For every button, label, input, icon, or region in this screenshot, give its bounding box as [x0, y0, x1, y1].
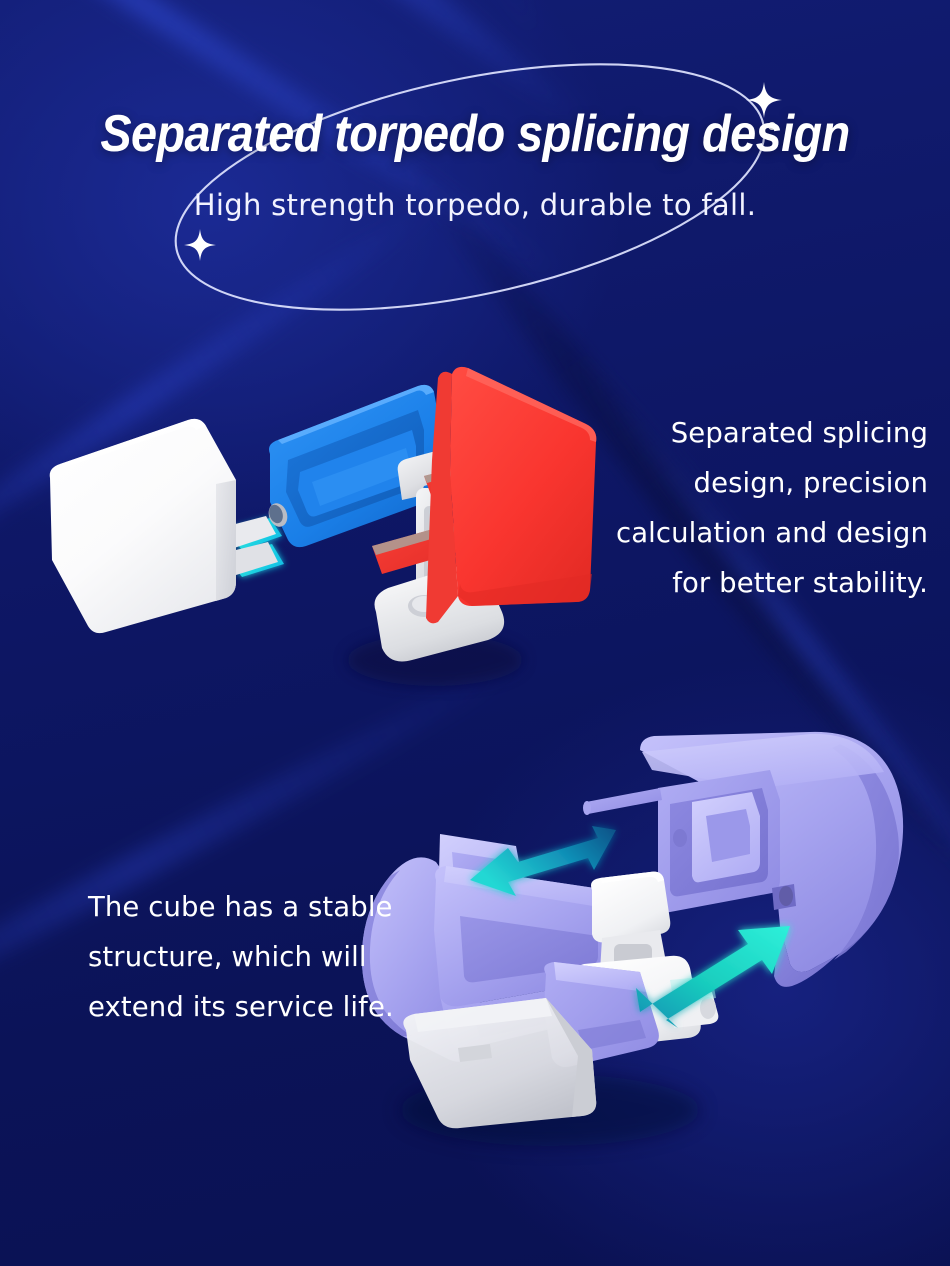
page-title: Separated torpedo splicing design — [48, 104, 903, 164]
white-tile — [50, 419, 236, 633]
exploded-corner-piece — [20, 360, 620, 720]
feature-text-splicing-design: Separated splicing design, precision cal… — [588, 408, 928, 608]
page-subtitle: High strength torpedo, durable to fall. — [0, 186, 950, 224]
promo-banner: Separated torpedo splicing design High s… — [0, 0, 950, 1266]
feature-text-stable-structure: The cube has a stable structure, which w… — [88, 882, 418, 1032]
red-tile — [426, 367, 596, 623]
exploded-edge-piece — [340, 730, 940, 1150]
